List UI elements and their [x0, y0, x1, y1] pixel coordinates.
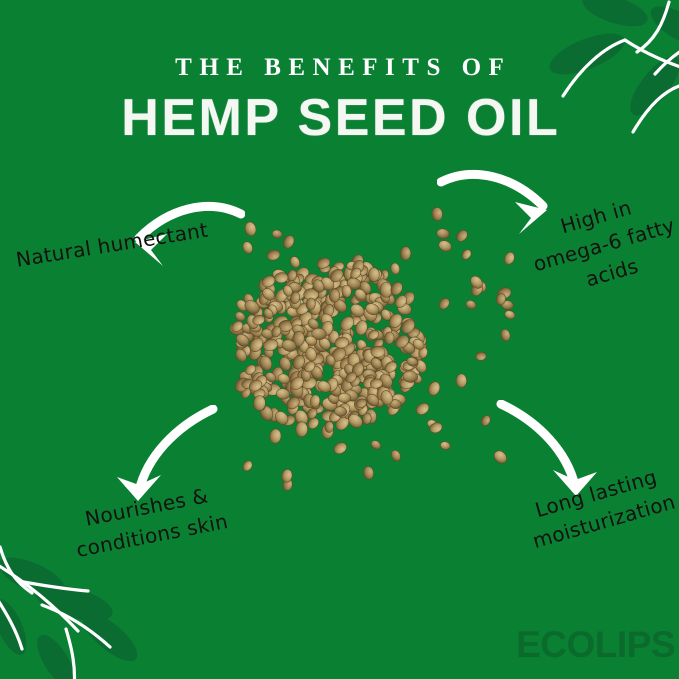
brand-logo: ECOLIPS: [516, 626, 675, 663]
benefit-label-nourishes-conditions-skin: Nourishes & conditions skin: [58, 477, 241, 567]
hemp-seed-pile-image: [185, 195, 515, 495]
infographic-poster: THE BENEFITS OF HEMP SEED OIL: [0, 0, 679, 679]
brand-name: ECOLIPS: [516, 626, 675, 663]
benefit-label-natural-humectant: Natural humectant: [14, 216, 210, 275]
benefit-label-high-in-omega-6: High in omega-6 fatty acids: [520, 183, 679, 308]
page-title: HEMP SEED OIL: [0, 92, 679, 144]
title-block: THE BENEFITS OF HEMP SEED OIL: [0, 55, 679, 144]
benefit-label-long-lasting-moisturization: Long lasting moisturization: [508, 456, 679, 560]
heading-kicker: THE BENEFITS OF: [0, 55, 679, 80]
